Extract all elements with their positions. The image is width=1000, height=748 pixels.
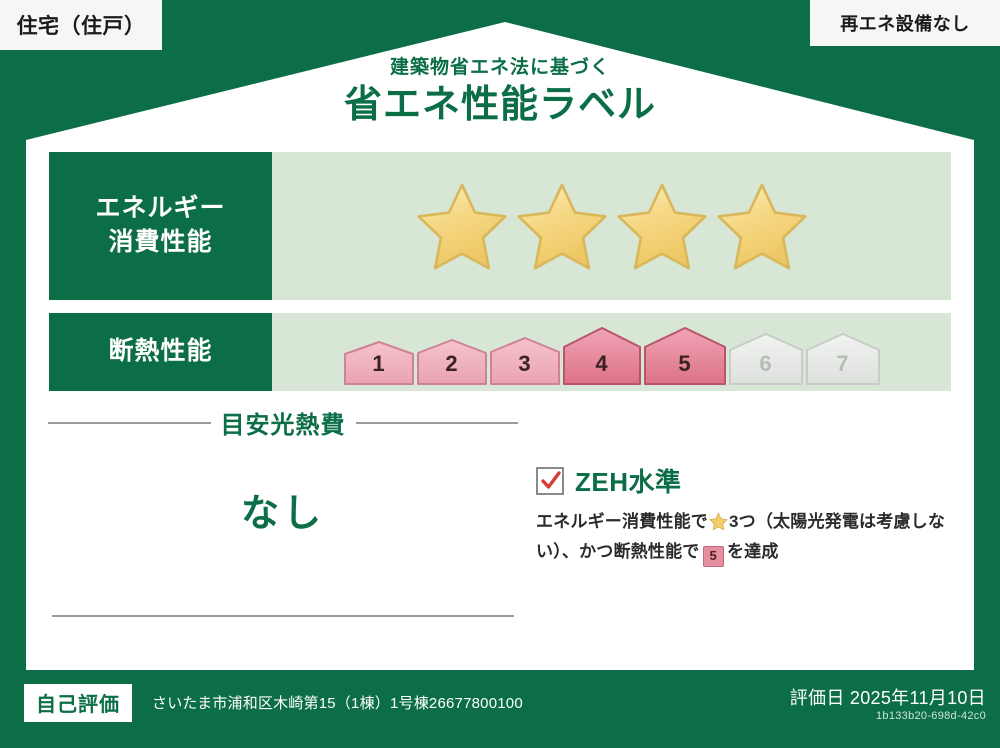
energy-performance-label-line2: 消費性能 <box>108 226 212 260</box>
star-icon <box>709 516 728 535</box>
star-icon <box>416 180 508 272</box>
label-hash-id: 1b133b20-698d-42c0 <box>876 710 986 722</box>
evaluation-date: 評価日 2025年11月10日 <box>790 684 986 710</box>
utility-cost-title: 目安光熱費 <box>221 405 346 440</box>
renewable-energy-tag: 再エネ設備なし <box>810 0 1000 46</box>
energy-performance-label-line1: エネルギー <box>95 192 225 226</box>
star-icon <box>516 180 608 272</box>
insulation-step-1: 1 <box>344 341 414 385</box>
property-address: さいたま市浦和区木崎第15（1棟）1号棟26677800100 <box>152 692 523 713</box>
insulation-step-number: 5 <box>644 351 726 377</box>
renewable-energy-tag-label: 再エネ設備なし <box>840 10 970 36</box>
insulation-step-2: 2 <box>417 339 487 385</box>
building-type-tag: 住宅（住戸） <box>0 0 162 50</box>
title-main: 省エネ性能ラベル <box>0 85 1000 127</box>
title-subtitle: 建築物省エネ法に基づく <box>0 58 1000 79</box>
utility-cost-value: なし <box>48 482 518 537</box>
insulation-step-3: 3 <box>490 337 560 385</box>
zeh-desc-part3: を達成 <box>727 542 779 561</box>
star-icon <box>616 180 708 272</box>
zeh-desc-part1: エネルギー消費性能で <box>536 512 708 531</box>
star-rating <box>416 180 808 272</box>
self-evaluation-badge: 自己評価 <box>24 684 132 722</box>
insulation-performance-label-text: 断熱性能 <box>108 335 212 369</box>
insulation-step-number: 2 <box>417 351 487 377</box>
utility-cost-header: 目安光熱費 <box>48 405 518 440</box>
insulation-step-5: 5 <box>644 327 726 385</box>
insulation-performance-row: 断熱性能 1234567 <box>49 313 951 391</box>
zeh-description: エネルギー消費性能で3つ（太陽光発電は考慮しない）、かつ断熱性能で5を達成 <box>536 509 956 567</box>
zeh-title: ZEH水準 <box>575 462 682 499</box>
insulation-performance-value: 1234567 <box>272 313 951 391</box>
energy-performance-row: エネルギー 消費性能 <box>49 152 951 300</box>
energy-performance-label: 住宅（住戸） 再エネ設備なし 建築物省エネ法に基づく 省エネ性能ラベル エネルギ… <box>0 0 1000 748</box>
insulation-step-6: 6 <box>729 333 803 385</box>
star-icon <box>716 180 808 272</box>
divider-left <box>48 422 211 424</box>
divider-right <box>356 422 519 424</box>
insulation-step-number: 7 <box>806 351 880 377</box>
insulation-step-number: 3 <box>490 351 560 377</box>
insulation-performance-label: 断熱性能 <box>49 313 272 391</box>
check-icon[interactable] <box>536 467 564 495</box>
insulation-step-7: 7 <box>806 333 880 385</box>
energy-performance-value <box>272 152 951 300</box>
energy-performance-label: エネルギー 消費性能 <box>49 152 272 300</box>
insulation-step-number: 4 <box>563 351 641 377</box>
insulation-step-number: 6 <box>729 351 803 377</box>
insulation-scale: 1234567 <box>344 313 880 391</box>
insulation-step-number: 1 <box>344 351 414 377</box>
insulation-level-badge: 5 <box>703 546 724 567</box>
utility-cost-bottom-divider <box>52 615 514 617</box>
zeh-block: ZEH水準 エネルギー消費性能で3つ（太陽光発電は考慮しない）、かつ断熱性能で5… <box>536 462 956 567</box>
page-title: 建築物省エネ法に基づく 省エネ性能ラベル <box>0 58 1000 127</box>
footer: 自己評価 さいたま市浦和区木崎第15（1棟）1号棟26677800100 評価日… <box>0 670 1000 748</box>
zeh-header: ZEH水準 <box>536 462 956 499</box>
insulation-step-4: 4 <box>563 327 641 385</box>
building-type-tag-label: 住宅（住戸） <box>17 10 146 40</box>
